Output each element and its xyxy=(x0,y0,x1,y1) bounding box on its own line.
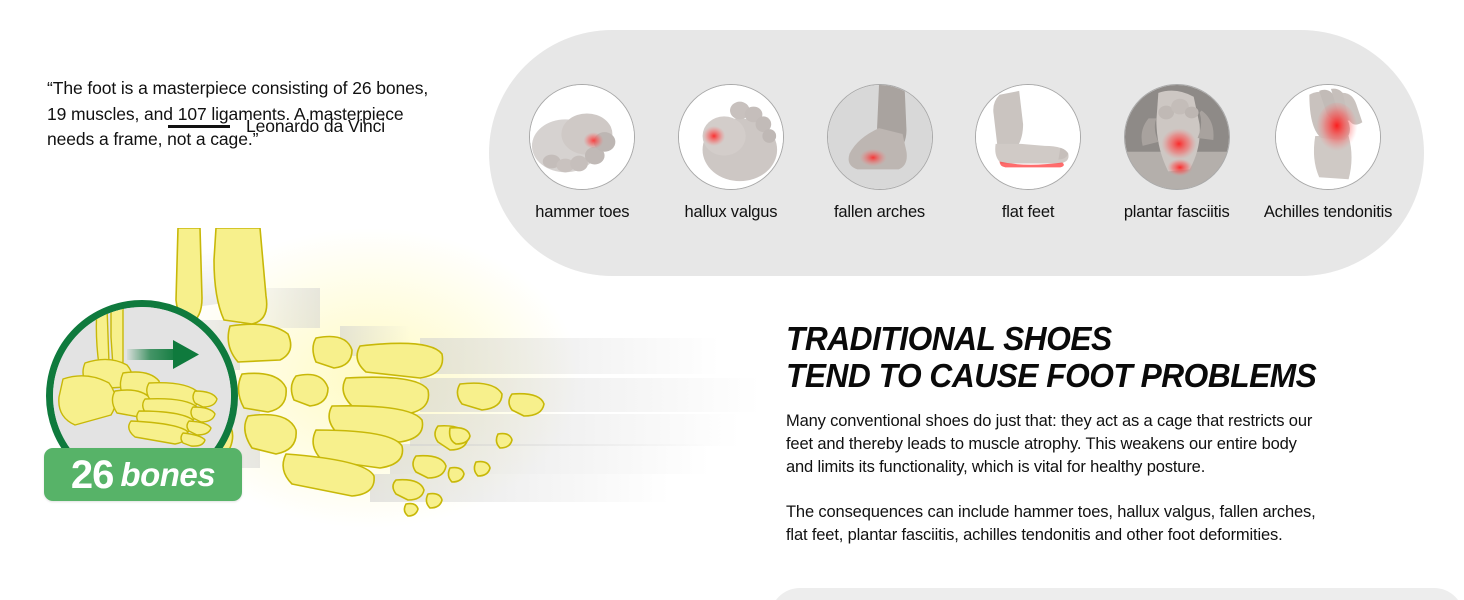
attribution-name: Leonardo da Vinci xyxy=(246,116,385,137)
bones-count-number: 26 xyxy=(71,455,114,495)
achilles-tendonitis-photo-icon xyxy=(1275,84,1381,190)
condition-item-achilles-tendonitis[interactable]: Achilles tendonitis xyxy=(1272,84,1384,222)
condition-item-plantar-fasciitis[interactable]: plantar fasciitis xyxy=(1123,84,1230,222)
quote-text: “The foot is a masterpiece consisting of… xyxy=(47,76,467,153)
hammer-toes-photo-icon xyxy=(529,84,635,190)
quote-attribution: Leonardo da Vinci xyxy=(168,116,385,137)
condition-item-flat-feet[interactable]: flat feet xyxy=(975,84,1082,222)
info-paragraph-2: The consequences can include hammer toes… xyxy=(786,501,1386,547)
plantar-fasciitis-photo-icon xyxy=(1124,84,1230,190)
attribution-rule xyxy=(168,125,230,128)
condition-item-hammer-toes[interactable]: hammer toes xyxy=(529,84,636,222)
infographic-canvas: “The foot is a masterpiece consisting of… xyxy=(0,0,1464,600)
flat-feet-photo-icon xyxy=(975,84,1081,190)
condition-label: plantar fasciitis xyxy=(1124,203,1230,222)
bones-count-badge: 26 bones xyxy=(44,448,242,501)
fallen-arches-photo-icon xyxy=(827,84,933,190)
condition-label: Achilles tendonitis xyxy=(1264,203,1392,222)
condition-label: flat feet xyxy=(1002,203,1054,222)
info-column: TRADITIONAL SHOES TEND TO CAUSE FOOT PRO… xyxy=(786,320,1386,547)
quote-block: “The foot is a masterpiece consisting of… xyxy=(47,76,467,153)
bones-callout: 26 bones xyxy=(46,300,246,500)
bones-count-word: bones xyxy=(120,458,215,491)
condition-label: hallux valgus xyxy=(685,203,778,222)
condition-item-hallux-valgus[interactable]: hallux valgus xyxy=(678,84,785,222)
condition-label: hammer toes xyxy=(535,203,629,222)
info-paragraph-1: Many conventional shoes do just that: th… xyxy=(786,410,1386,479)
condition-item-fallen-arches[interactable]: fallen arches xyxy=(826,84,933,222)
condition-label: fallen arches xyxy=(834,203,925,222)
bottom-panel-sliver xyxy=(770,588,1464,600)
page-title: TRADITIONAL SHOES TEND TO CAUSE FOOT PRO… xyxy=(786,320,1362,394)
hallux-valgus-photo-icon xyxy=(678,84,784,190)
